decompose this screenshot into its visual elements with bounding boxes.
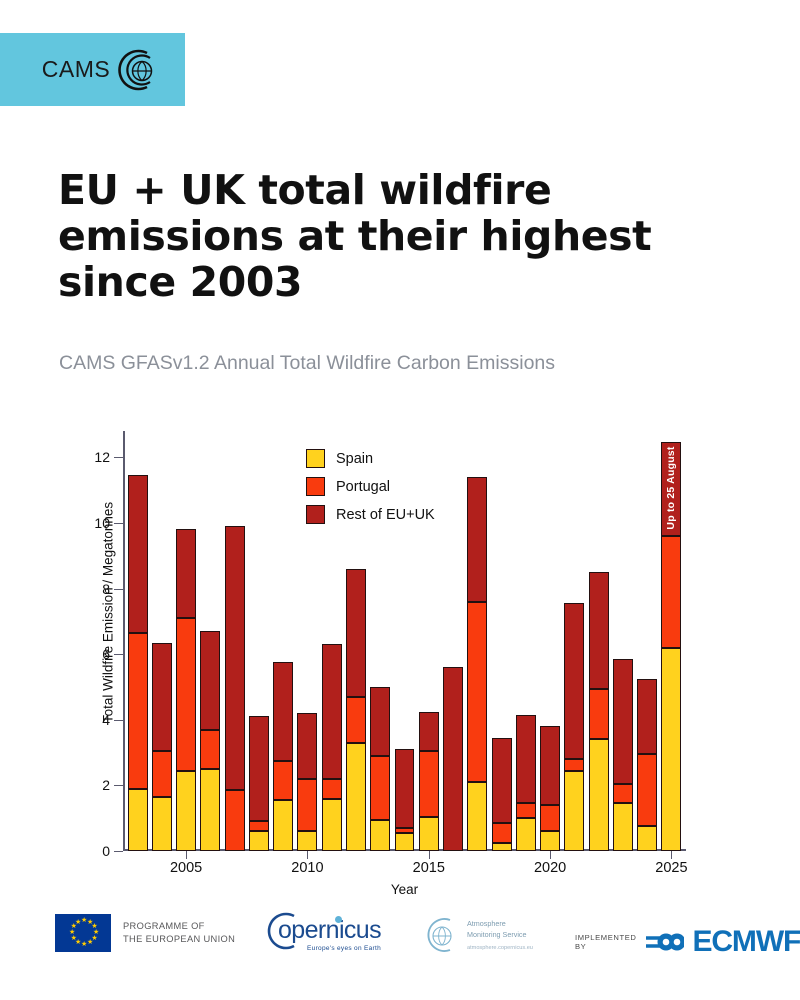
bar-segment-spain[interactable] (395, 833, 415, 851)
bar-segment-rest-of-eu-uk[interactable] (540, 726, 560, 805)
y-tick-label: 2 (102, 777, 110, 793)
bar-segment-rest-of-eu-uk[interactable] (492, 738, 512, 823)
y-tick-label: 12 (94, 449, 110, 465)
x-tick (550, 851, 551, 859)
eu-star-icon: ★ (75, 921, 79, 925)
bar-segment-spain[interactable] (273, 800, 293, 851)
implemented-by-label: IMPLEMENTED BY (575, 933, 636, 951)
bar-segment-rest-of-eu-uk[interactable] (297, 713, 317, 779)
bar-group[interactable] (564, 431, 584, 851)
bar-segment-spain[interactable] (637, 826, 657, 851)
wildfire-emissions-chart: Total Wildfire Emission / Megatonnes 024… (60, 415, 740, 895)
bar-segment-rest-of-eu-uk[interactable] (273, 662, 293, 760)
bar-segment-portugal[interactable] (613, 784, 633, 804)
bar-segment-portugal[interactable] (128, 633, 148, 789)
bar-segment-spain[interactable] (249, 831, 269, 851)
legend-swatch-icon (306, 505, 325, 524)
legend-label: Spain (336, 451, 373, 467)
y-tick (114, 720, 123, 721)
eu-star-icon: ★ (87, 921, 91, 925)
y-tick-label: 8 (102, 581, 110, 597)
cams-logo: CAMS (42, 49, 159, 91)
bar-segment-rest-of-eu-uk[interactable] (661, 442, 681, 536)
eu-star-icon: ★ (81, 919, 85, 923)
bar-group[interactable] (225, 431, 245, 851)
bar-segment-portugal[interactable] (176, 618, 196, 771)
bar-segment-rest-of-eu-uk[interactable] (589, 572, 609, 688)
copernicus-arc-icon (264, 911, 298, 951)
bar-segment-portugal[interactable] (564, 759, 584, 770)
bar-segment-spain[interactable] (419, 817, 439, 851)
bar-segment-spain[interactable] (492, 843, 512, 851)
bar-group[interactable] (152, 431, 172, 851)
bar-segment-portugal[interactable] (419, 751, 439, 817)
y-tick-label: 6 (102, 646, 110, 662)
bar-segment-spain[interactable] (370, 820, 390, 851)
y-tick (114, 589, 123, 590)
legend-label: Rest of EU+UK (336, 507, 435, 523)
bar-group[interactable] (613, 431, 633, 851)
bar-group[interactable] (516, 431, 536, 851)
bar-segment-spain[interactable] (322, 799, 342, 852)
bar-segment-spain[interactable] (613, 803, 633, 851)
legend-item[interactable]: Spain (306, 449, 435, 468)
bar-segment-spain[interactable] (516, 818, 536, 851)
bar-segment-rest-of-eu-uk[interactable] (322, 644, 342, 779)
bar-group[interactable] (273, 431, 293, 851)
y-tick-label: 4 (102, 712, 110, 728)
bar-group[interactable]: Up to 25 August (661, 431, 681, 851)
bar-group[interactable] (443, 431, 463, 851)
bar-segment-portugal[interactable] (467, 602, 487, 782)
bar-segment-portugal[interactable] (200, 730, 220, 769)
ams-line2: Monitoring Service (467, 930, 533, 941)
bar-segment-portugal[interactable] (540, 805, 560, 831)
bar-group[interactable] (637, 431, 657, 851)
x-axis-title: Year (123, 882, 686, 897)
bar-segment-spain[interactable] (540, 831, 560, 851)
legend-item[interactable]: Rest of EU+UK (306, 505, 435, 524)
cams-globe-icon (117, 49, 159, 91)
cams-wordmark: CAMS (42, 56, 110, 83)
bar-segment-rest-of-eu-uk[interactable] (637, 679, 657, 754)
bar-segment-rest-of-eu-uk[interactable] (249, 716, 269, 821)
eu-star-icon: ★ (69, 931, 73, 935)
x-tick (186, 851, 187, 859)
x-tick-label: 2020 (534, 860, 566, 876)
bar-segment-spain[interactable] (128, 789, 148, 851)
eu-star-icon: ★ (71, 937, 75, 941)
bar-segment-spain[interactable] (176, 771, 196, 851)
bar-group[interactable] (540, 431, 560, 851)
bar-segment-rest-of-eu-uk[interactable] (370, 687, 390, 756)
eu-star-icon: ★ (87, 941, 91, 945)
y-tick (114, 523, 123, 524)
plot-area: 024681012 20052010201520202025 Up to 25 … (123, 431, 686, 851)
x-tick-label: 2005 (170, 860, 202, 876)
legend-swatch-icon (306, 477, 325, 496)
y-tick-label: 0 (102, 843, 110, 859)
ecmwf-cloud-icon (644, 930, 684, 954)
eu-programme-text: PROGRAMME OF THE EUROPEAN UNION (123, 920, 235, 946)
bar-segment-portugal[interactable] (273, 761, 293, 800)
bar-group[interactable] (492, 431, 512, 851)
ams-globe-icon (422, 916, 460, 954)
bar-group[interactable] (128, 431, 148, 851)
bar-segment-portugal[interactable] (152, 751, 172, 797)
ams-url: atmosphere.copernicus.eu (467, 945, 533, 951)
cams-brand-banner: CAMS (0, 33, 185, 106)
bar-segment-portugal[interactable] (637, 754, 657, 826)
legend-item[interactable]: Portugal (306, 477, 435, 496)
bar-segment-spain[interactable] (152, 797, 172, 851)
page-title: EU + UK total wildfire emissions at thei… (58, 168, 758, 306)
bar-segment-portugal[interactable] (225, 790, 245, 851)
bar-segment-rest-of-eu-uk[interactable] (176, 529, 196, 618)
bar-segment-rest-of-eu-uk[interactable] (467, 477, 487, 602)
ecmwf-logo: IMPLEMENTED BY ECMWF (575, 927, 800, 957)
ecmwf-wordmark: ECMWF (692, 927, 800, 957)
bar-segment-portugal[interactable] (370, 756, 390, 820)
bar-segment-spain[interactable] (200, 769, 220, 851)
bar-group[interactable] (200, 431, 220, 851)
bar-segment-portugal[interactable] (322, 779, 342, 799)
bar-group[interactable] (589, 431, 609, 851)
ams-text: Atmosphere Monitoring Service (467, 919, 533, 941)
bar-segment-portugal[interactable] (249, 821, 269, 831)
bar-segment-portugal[interactable] (492, 823, 512, 843)
eu-programme-logo: ★★★★★★★★★★★★ PROGRAMME OF THE EUROPEAN U… (55, 914, 235, 952)
page-subtitle: CAMS GFASv1.2 Annual Total Wildfire Carb… (59, 352, 759, 375)
bar-segment-portugal[interactable] (297, 779, 317, 832)
x-tick-label: 2010 (291, 860, 323, 876)
bar-segment-spain[interactable] (661, 648, 681, 851)
bar-segment-portugal[interactable] (661, 536, 681, 648)
eu-text-line2: THE EUROPEAN UNION (123, 933, 235, 946)
copernicus-logo: opernicus Europe's eyes on Earth (278, 918, 381, 952)
y-tick (114, 457, 123, 458)
bar-segment-rest-of-eu-uk[interactable] (419, 712, 439, 751)
bar-segment-spain[interactable] (467, 782, 487, 851)
chart-legend: SpainPortugalRest of EU+UK (306, 449, 435, 524)
ams-line1: Atmosphere (467, 919, 533, 930)
bar-segment-portugal[interactable] (395, 828, 415, 833)
atmosphere-monitoring-service-logo: Atmosphere Monitoring Service atmosphere… (422, 916, 533, 954)
bar-segment-rest-of-eu-uk[interactable] (516, 715, 536, 804)
bar-segment-rest-of-eu-uk[interactable] (128, 475, 148, 633)
x-tick-label: 2025 (655, 860, 687, 876)
copernicus-wordmark: opernicus (278, 918, 381, 943)
copernicus-dot-icon (335, 916, 342, 923)
legend-label: Portugal (336, 479, 390, 495)
x-tick (307, 851, 308, 859)
bar-segment-portugal[interactable] (516, 803, 536, 818)
bar-segment-rest-of-eu-uk[interactable] (613, 659, 633, 784)
bar-group[interactable] (249, 431, 269, 851)
eu-flag-icon: ★★★★★★★★★★★★ (55, 914, 111, 952)
bar-segment-spain[interactable] (297, 831, 317, 851)
x-tick-label: 2015 (413, 860, 445, 876)
bar-segment-rest-of-eu-uk[interactable] (564, 603, 584, 759)
y-tick-label: 10 (94, 515, 110, 531)
bar-group[interactable] (467, 431, 487, 851)
legend-swatch-icon (306, 449, 325, 468)
bar-segment-rest-of-eu-uk[interactable] (152, 643, 172, 751)
eu-star-icon: ★ (81, 943, 85, 947)
bar-segment-spain[interactable] (346, 743, 366, 851)
bar-segment-rest-of-eu-uk[interactable] (395, 749, 415, 828)
bar-segment-rest-of-eu-uk[interactable] (225, 526, 245, 790)
y-tick (114, 654, 123, 655)
x-tick (429, 851, 430, 859)
bar-segment-rest-of-eu-uk[interactable] (443, 667, 463, 851)
bar-group[interactable] (176, 431, 196, 851)
x-tick (671, 851, 672, 859)
bar-segment-spain[interactable] (589, 739, 609, 851)
bar-segment-portugal[interactable] (346, 697, 366, 743)
eu-text-line1: PROGRAMME OF (123, 920, 235, 933)
bar-segment-spain[interactable] (564, 771, 584, 851)
eu-star-icon: ★ (71, 925, 75, 929)
bar-segment-portugal[interactable] (589, 689, 609, 740)
bar-segment-rest-of-eu-uk[interactable] (346, 569, 366, 697)
y-tick (114, 785, 123, 786)
bar-segment-rest-of-eu-uk[interactable] (200, 631, 220, 729)
footer-logos: ★★★★★★★★★★★★ PROGRAMME OF THE EUROPEAN U… (0, 900, 800, 1000)
y-tick (114, 851, 123, 852)
